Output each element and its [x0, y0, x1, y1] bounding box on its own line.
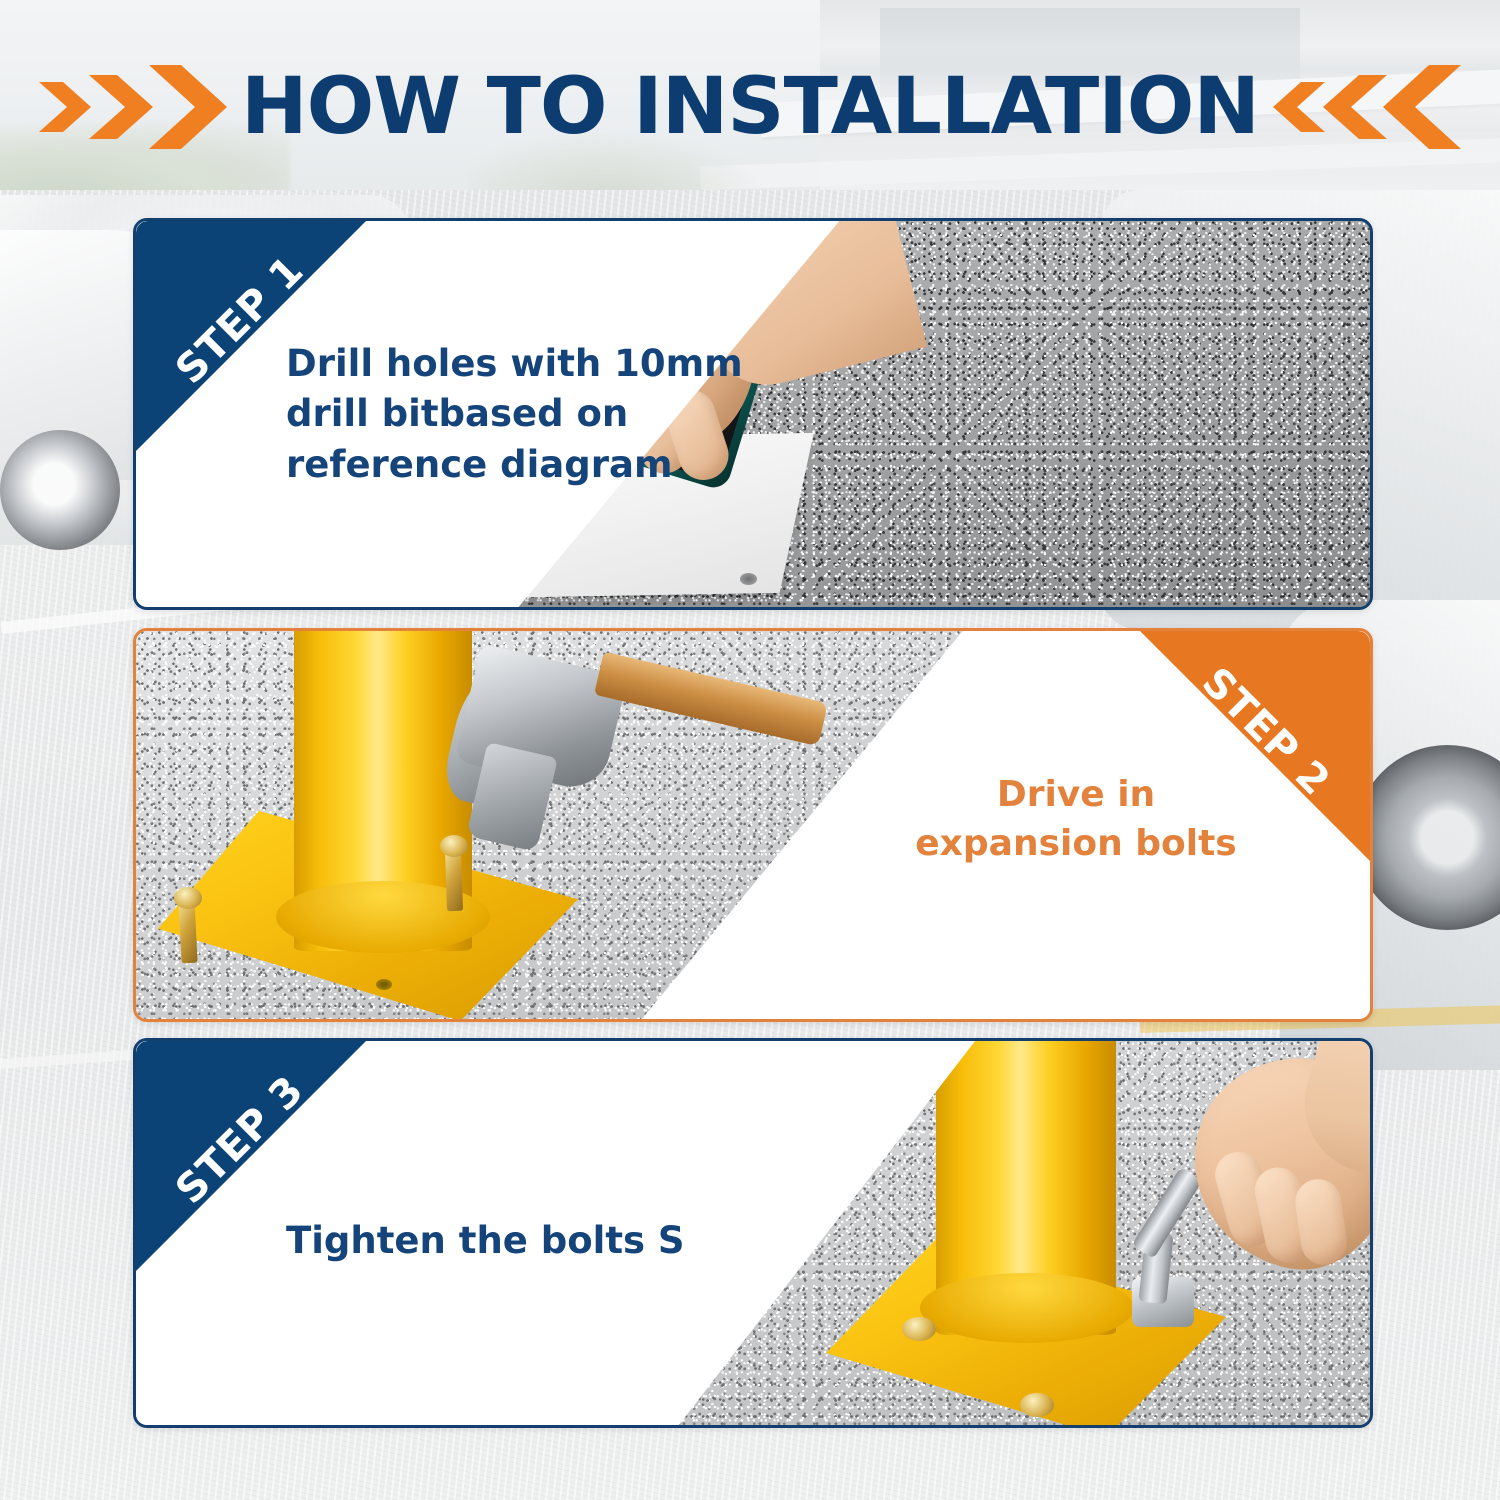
background-wheel-left — [0, 430, 120, 550]
step-3-bolt-bottom — [1020, 1393, 1054, 1417]
step-2-bolt-right-shaft — [445, 849, 463, 912]
step-1-badge: STEP 1 — [136, 221, 366, 451]
chevron-right-triple-icon — [1267, 59, 1463, 155]
step-2-badge: STEP 2 — [1140, 631, 1370, 861]
chevron-left-triple-icon — [37, 59, 233, 155]
page-header: HOW TO INSTALLATION — [0, 52, 1500, 162]
step-3-bolt-left — [902, 1317, 936, 1341]
step-1-plate-hole-b — [740, 573, 757, 585]
step-2-bolt-right-head — [440, 835, 468, 857]
chevron-left-icon-large — [1377, 59, 1463, 155]
step-card-2[interactable]: Drive in expansion bolts STEP 2 — [133, 628, 1373, 1022]
step-card-1[interactable]: Drill holes with 10mm drill bitbased on … — [133, 218, 1373, 610]
page-title: HOW TO INSTALLATION — [241, 68, 1259, 146]
step-3-bollard-base — [920, 1273, 1134, 1343]
step-2-bolt-left-head — [174, 887, 202, 909]
chevron-right-icon-large — [147, 59, 233, 155]
step-2-plate-hole — [376, 979, 392, 990]
step-3-badge: STEP 3 — [136, 1041, 366, 1271]
step-card-3[interactable]: Tighten the bolts S STEP 3 — [133, 1038, 1373, 1428]
